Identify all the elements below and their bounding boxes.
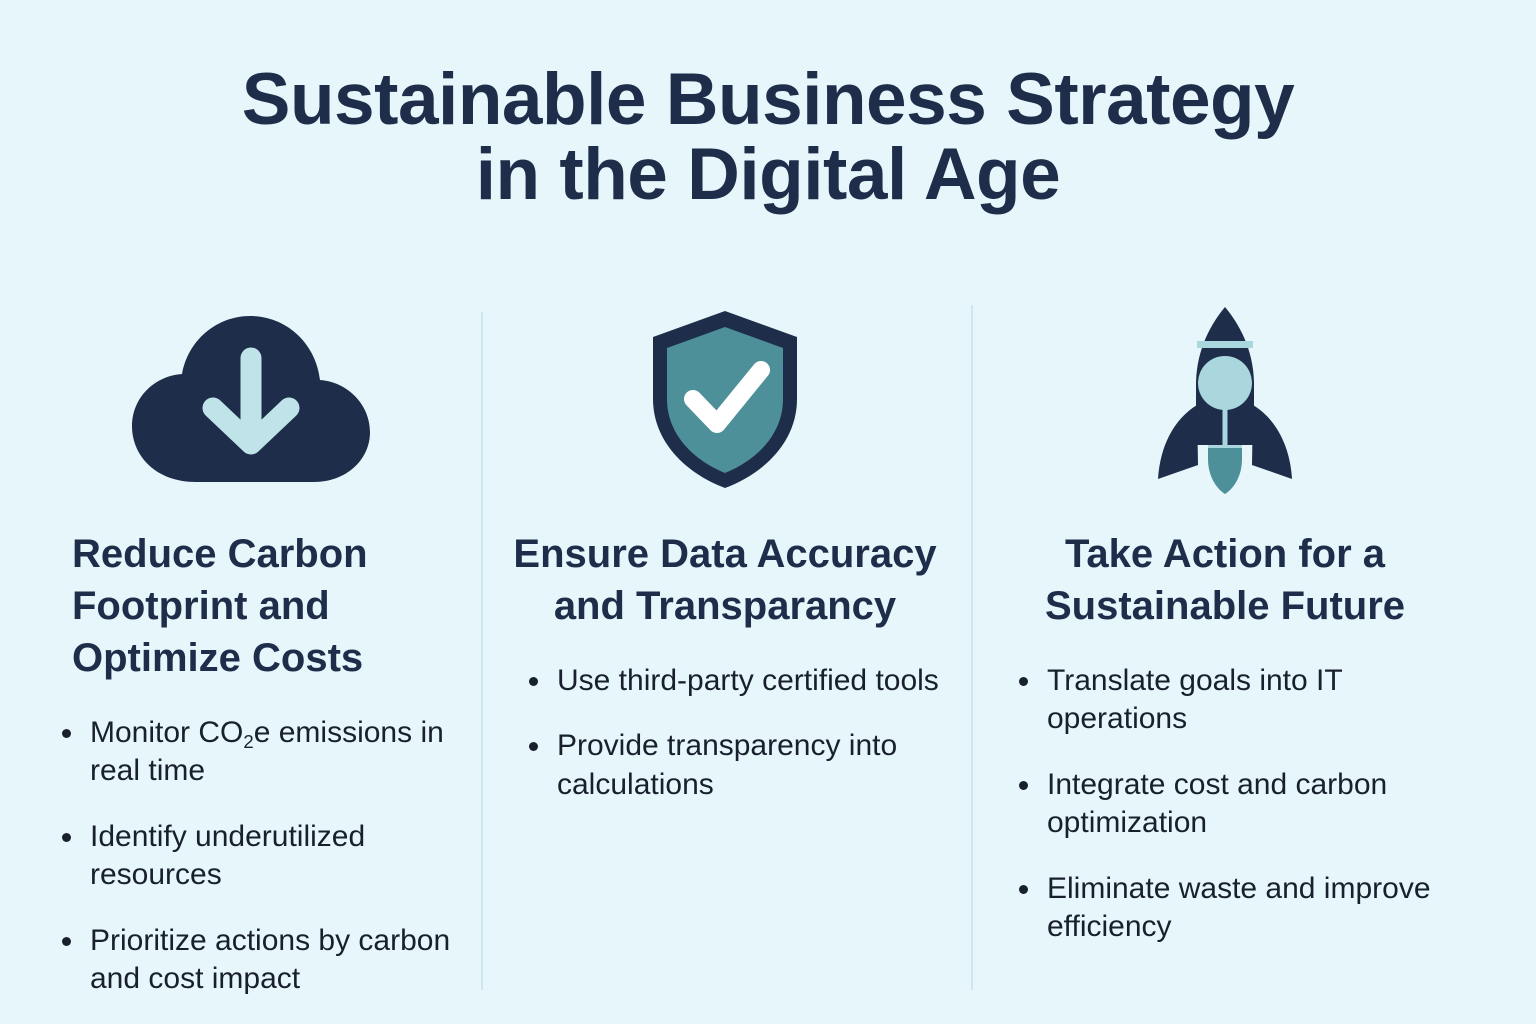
bullet-text: Provide transparency into calculations [557, 727, 950, 804]
column-bullet-list: Use third-party certified tools Provide … [500, 662, 950, 804]
column-take-action: Take Action for a Sustainable Future Tra… [995, 300, 1455, 946]
title-line-2: in the Digital Age [0, 137, 1536, 212]
bullet-text: Use third-party certified tools [557, 662, 950, 700]
title-line-1: Sustainable Business Strategy [0, 62, 1536, 137]
column-bullet-list: Monitor CO2e emissions in real time Iden… [40, 714, 460, 998]
list-item: Eliminate waste and improve efficiency [1017, 870, 1455, 947]
column-ensure-data-accuracy: Ensure Data Accuracy and Transparancy Us… [500, 300, 950, 804]
list-item: Monitor CO2e emissions in real time [60, 714, 460, 791]
list-item: Identify underutilized resources [60, 818, 460, 895]
bullet-text: Prioritize actions by carbon and cost im… [90, 922, 460, 999]
bullet-text: Translate goals into IT operations [1047, 662, 1455, 739]
bullet-dot-icon [529, 742, 538, 751]
column-heading: Take Action for a Sustainable Future [995, 528, 1455, 632]
list-item: Integrate cost and carbon optimization [1017, 766, 1455, 843]
column-divider-1 [481, 312, 483, 990]
bullet-dot-icon [62, 833, 71, 842]
bullet-dot-icon [62, 937, 71, 946]
list-item: Provide transparency into calculations [527, 727, 950, 804]
column-divider-2 [971, 305, 973, 990]
list-item: Prioritize actions by carbon and cost im… [60, 922, 460, 999]
bullet-text: Eliminate waste and improve efficiency [1047, 870, 1455, 947]
bullet-dot-icon [529, 677, 538, 686]
list-item: Use third-party certified tools [527, 662, 950, 700]
column-heading: Reduce Carbon Footprint and Optimize Cos… [40, 528, 460, 684]
bullet-dot-icon [1019, 781, 1028, 790]
bullet-dot-icon [62, 729, 71, 738]
rocket-icon [995, 300, 1455, 500]
cloud-download-icon [40, 300, 460, 500]
bullet-dot-icon [1019, 885, 1028, 894]
page-title: Sustainable Business Strategy in the Dig… [0, 62, 1536, 212]
column-reduce-carbon-footprint: Reduce Carbon Footprint and Optimize Cos… [40, 300, 460, 998]
bullet-text: Integrate cost and carbon optimization [1047, 766, 1455, 843]
infographic-canvas: Sustainable Business Strategy in the Dig… [0, 0, 1536, 1024]
shield-check-icon [500, 300, 950, 500]
column-heading: Ensure Data Accuracy and Transparancy [500, 528, 950, 632]
column-bullet-list: Translate goals into IT operations Integ… [995, 662, 1455, 946]
bullet-text: Monitor CO2e emissions in real time [90, 714, 460, 791]
bullet-dot-icon [1019, 677, 1028, 686]
list-item: Translate goals into IT operations [1017, 662, 1455, 739]
bullet-text: Identify underutilized resources [90, 818, 460, 895]
